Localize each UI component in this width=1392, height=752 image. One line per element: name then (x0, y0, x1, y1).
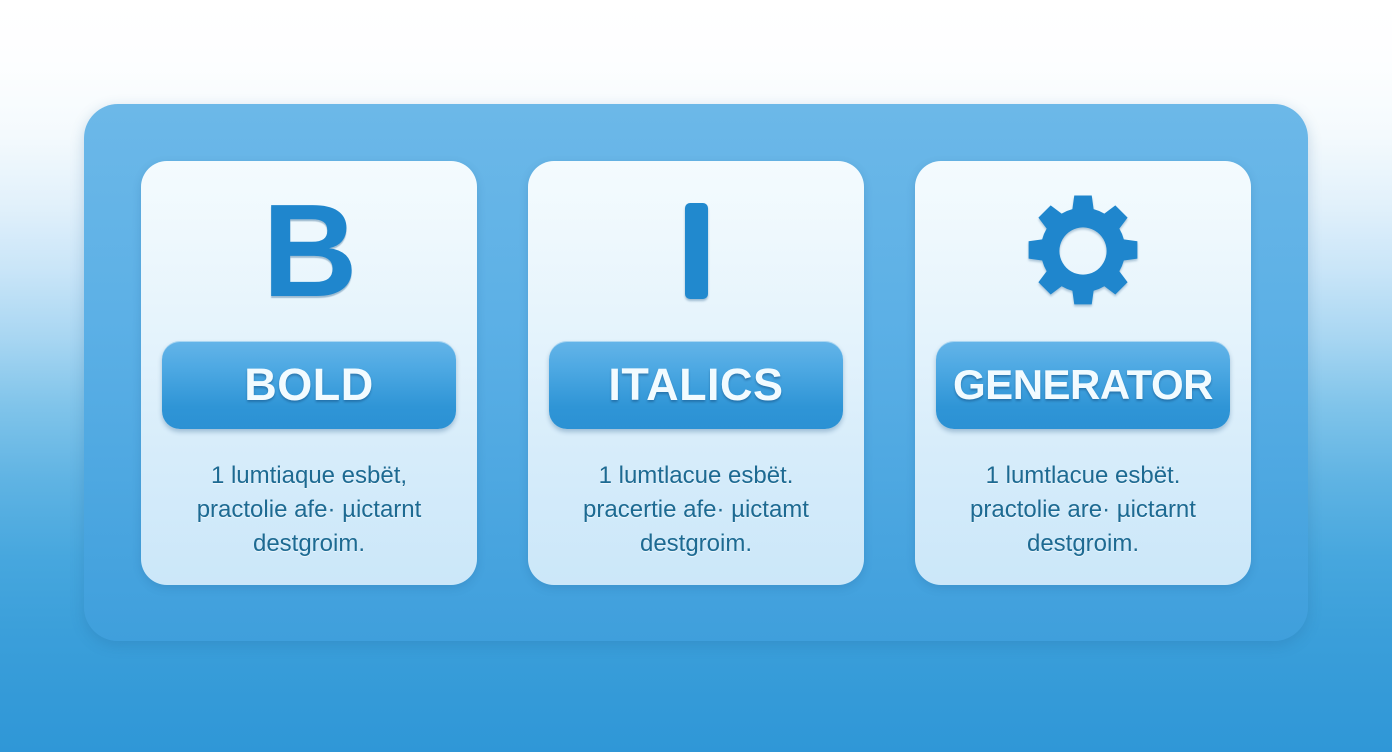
italics-button[interactable]: ITALICS (549, 341, 843, 428)
glyph-area (915, 161, 1251, 342)
generator-button[interactable]: GENERATOR (936, 341, 1230, 428)
page-root: B BOLD 1 lumtiaque esbët, practolie afe·… (0, 0, 1392, 752)
generator-card-caption: 1 lumtlacue esbët. practolie are· µictar… (942, 459, 1224, 561)
italics-button-label: ITALICS (608, 359, 783, 411)
feature-card-bold[interactable]: B BOLD 1 lumtiaque esbët, practolie afe·… (141, 161, 477, 585)
glyph-area: B (141, 161, 477, 342)
bold-b-icon: B (262, 185, 355, 317)
italic-i-icon (685, 203, 708, 299)
glyph-area (528, 161, 864, 342)
gear-icon (1024, 192, 1142, 310)
bold-card-caption: 1 lumtiaque esbët, practolie afe· µictar… (168, 459, 450, 561)
feature-card-italics[interactable]: ITALICS 1 lumtlacue esbët. pracertie afe… (528, 161, 864, 585)
bold-button[interactable]: BOLD (162, 341, 456, 428)
italics-card-caption: 1 lumtlacue esbët. pracertie afe· µictam… (555, 459, 837, 561)
feature-panel: B BOLD 1 lumtiaque esbët, practolie afe·… (84, 104, 1308, 641)
bold-button-label: BOLD (244, 359, 374, 411)
feature-card-generator[interactable]: GENERATOR 1 lumtlacue esbët. practolie a… (915, 161, 1251, 585)
generator-button-label: GENERATOR (953, 361, 1213, 409)
